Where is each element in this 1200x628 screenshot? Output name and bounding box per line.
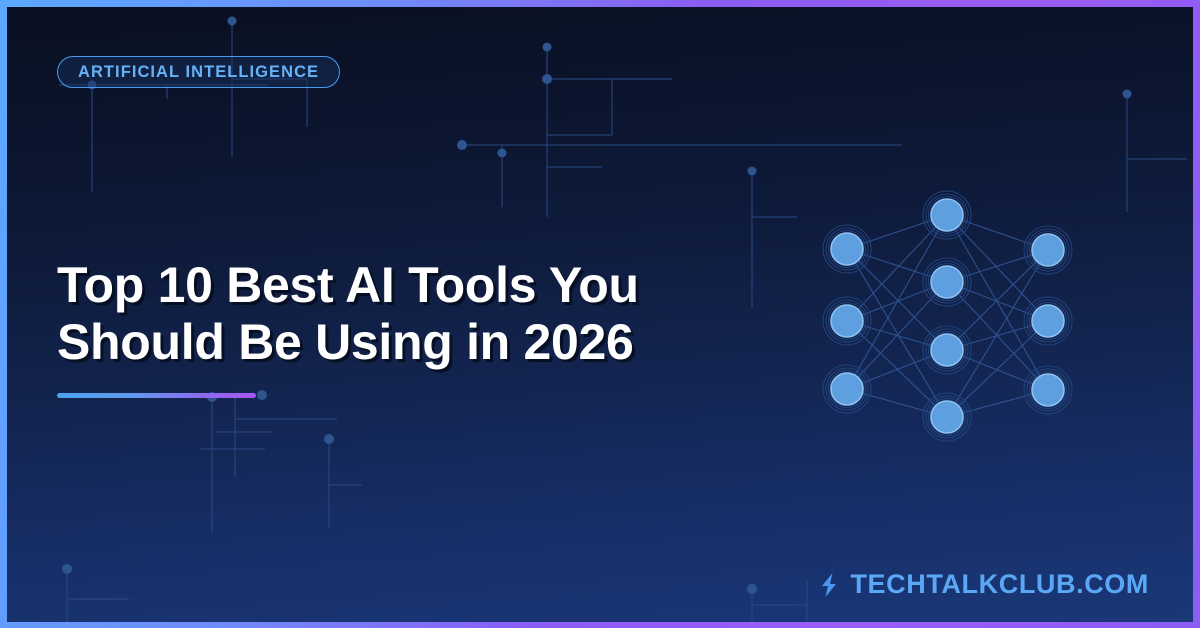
category-badge-label: ARTIFICIAL INTELLIGENCE bbox=[78, 63, 319, 82]
neural-network-diagram bbox=[800, 175, 1090, 450]
page-title-line-1: Top 10 Best AI Tools You bbox=[57, 257, 757, 314]
category-badge: ARTIFICIAL INTELLIGENCE bbox=[57, 56, 340, 88]
title-underline-accent bbox=[57, 393, 256, 398]
brand-name: TECHTALKCLUB.COM bbox=[850, 569, 1149, 600]
lightning-bolt-icon bbox=[819, 572, 839, 598]
brand-footer: TECHTALKCLUB.COM bbox=[819, 569, 1149, 600]
banner-background: ARTIFICIAL INTELLIGENCE #badge-label{} T… bbox=[7, 7, 1193, 622]
page-title: Top 10 Best AI Tools You Should Be Using… bbox=[57, 257, 757, 371]
page-title-line-2: Should Be Using in 2026 bbox=[57, 314, 757, 371]
banner-frame: ARTIFICIAL INTELLIGENCE #badge-label{} T… bbox=[0, 0, 1200, 628]
